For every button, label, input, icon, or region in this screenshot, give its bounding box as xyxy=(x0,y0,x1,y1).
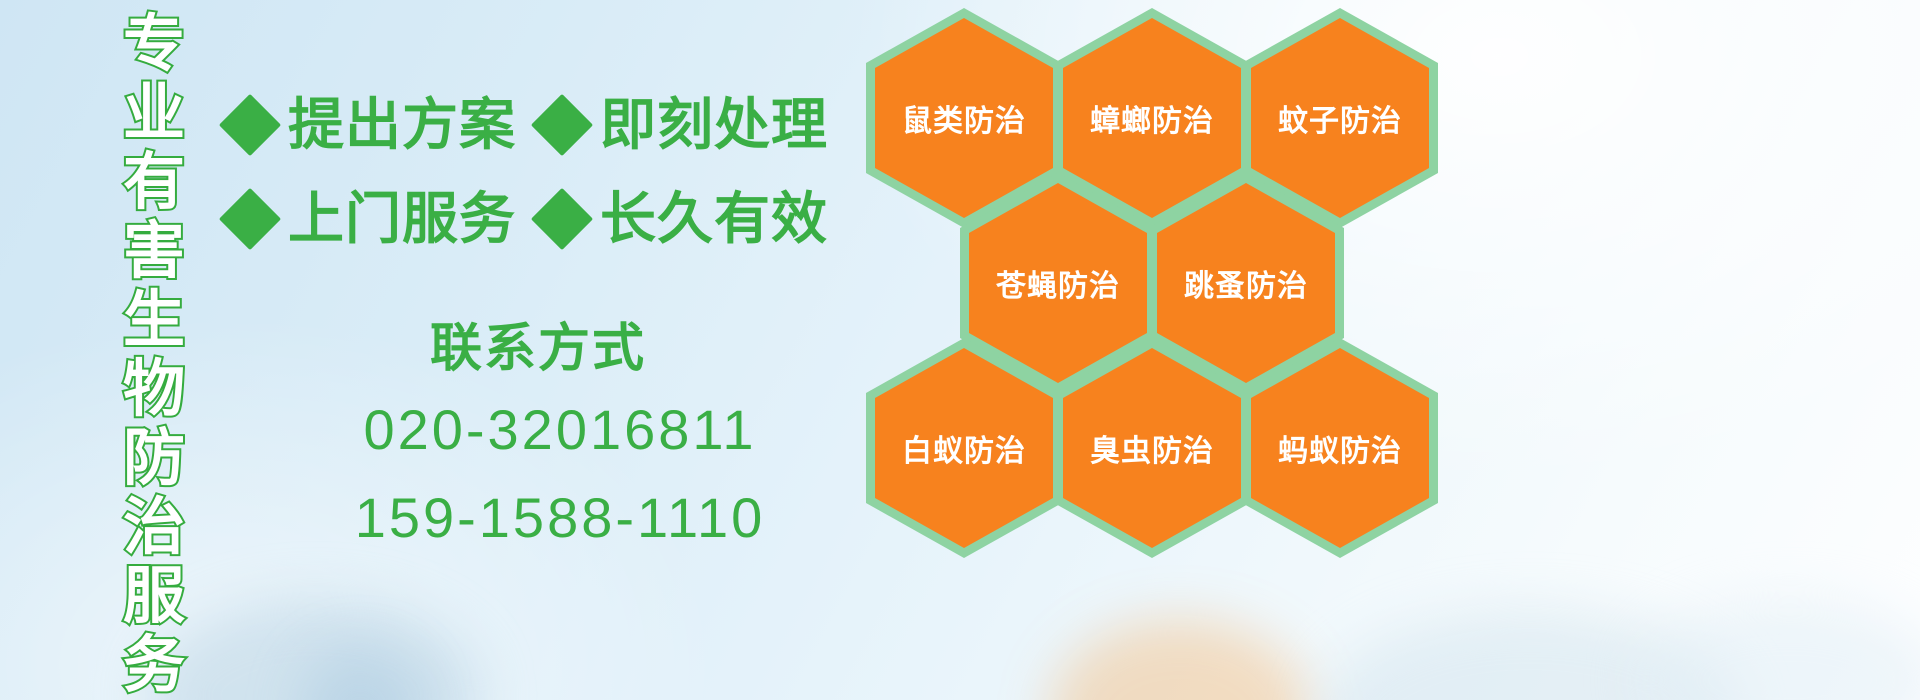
feature-label: 上门服务 xyxy=(288,191,516,247)
vertical-title-char: 有 xyxy=(123,148,185,217)
hex-inner-fill: 蚂蚁防治 xyxy=(1251,348,1429,548)
vertical-title-char: 服 xyxy=(123,562,185,631)
vertical-title-char: 治 xyxy=(123,493,185,562)
feature-item: 提出方案 xyxy=(228,97,516,153)
background-blur-blob xyxy=(1640,600,1920,700)
service-label: 蚊子防治 xyxy=(1278,96,1402,140)
hex-inner-fill: 蚊子防治 xyxy=(1251,18,1429,218)
feature-label: 提出方案 xyxy=(288,97,516,153)
background-blur-blob xyxy=(150,600,480,700)
hex-inner-fill: 跳蚤防治 xyxy=(1157,183,1335,383)
service-label: 跳蚤防治 xyxy=(1184,261,1308,305)
vertical-title-char: 业 xyxy=(123,79,185,148)
vertical-title-char: 务 xyxy=(123,631,185,700)
diamond-icon xyxy=(531,188,593,250)
diamond-icon xyxy=(219,94,281,156)
feature-item: 即刻处理 xyxy=(540,97,828,153)
diamond-icon xyxy=(219,188,281,250)
feature-row: 提出方案 即刻处理 xyxy=(228,78,868,172)
service-label: 白蚁防治 xyxy=(902,426,1026,470)
contact-phone-mobile[interactable]: 159-1588-1110 xyxy=(300,480,820,556)
feature-label: 即刻处理 xyxy=(600,97,828,153)
service-label: 蟑螂防治 xyxy=(1090,96,1214,140)
contact-label: 联系方式 xyxy=(256,318,820,380)
contact-block: 联系方式 020-32016811 159-1588-1110 xyxy=(300,318,820,556)
service-label: 臭虫防治 xyxy=(1090,426,1214,470)
vertical-title-char: 生 xyxy=(123,286,185,355)
service-label: 苍蝇防治 xyxy=(996,261,1120,305)
hex-inner-fill: 蟑螂防治 xyxy=(1063,18,1241,218)
vertical-title-char: 害 xyxy=(123,217,185,286)
vertical-title: 专 业 有 害 生 物 防 治 服 务 xyxy=(106,10,202,570)
feature-item: 上门服务 xyxy=(228,191,516,247)
service-label: 鼠类防治 xyxy=(902,96,1026,140)
contact-phone-landline[interactable]: 020-32016811 xyxy=(300,392,820,468)
background-blur-blob xyxy=(300,650,420,700)
feature-row: 上门服务 长久有效 xyxy=(228,172,868,266)
hex-inner-fill: 白蚁防治 xyxy=(875,348,1053,548)
hex-inner-fill: 苍蝇防治 xyxy=(969,183,1147,383)
diamond-icon xyxy=(531,94,593,156)
vertical-title-char: 专 xyxy=(123,10,185,79)
service-honeycomb: 鼠类防治 蟑螂防治 蚊子防治 苍蝇防治 跳蚤防治 白蚁防治 xyxy=(860,0,1460,700)
promo-banner: 专 业 有 害 生 物 防 治 服 务 提出方案 即刻处理 上门服务 xyxy=(0,0,1920,700)
feature-list: 提出方案 即刻处理 上门服务 长久有效 xyxy=(228,78,868,266)
service-label: 蚂蚁防治 xyxy=(1278,426,1402,470)
vertical-title-char: 防 xyxy=(123,424,185,493)
hex-inner-fill: 臭虫防治 xyxy=(1063,348,1241,548)
hex-inner-fill: 鼠类防治 xyxy=(875,18,1053,218)
feature-item: 长久有效 xyxy=(540,191,828,247)
vertical-title-char: 物 xyxy=(123,355,185,424)
feature-label: 长久有效 xyxy=(600,191,828,247)
